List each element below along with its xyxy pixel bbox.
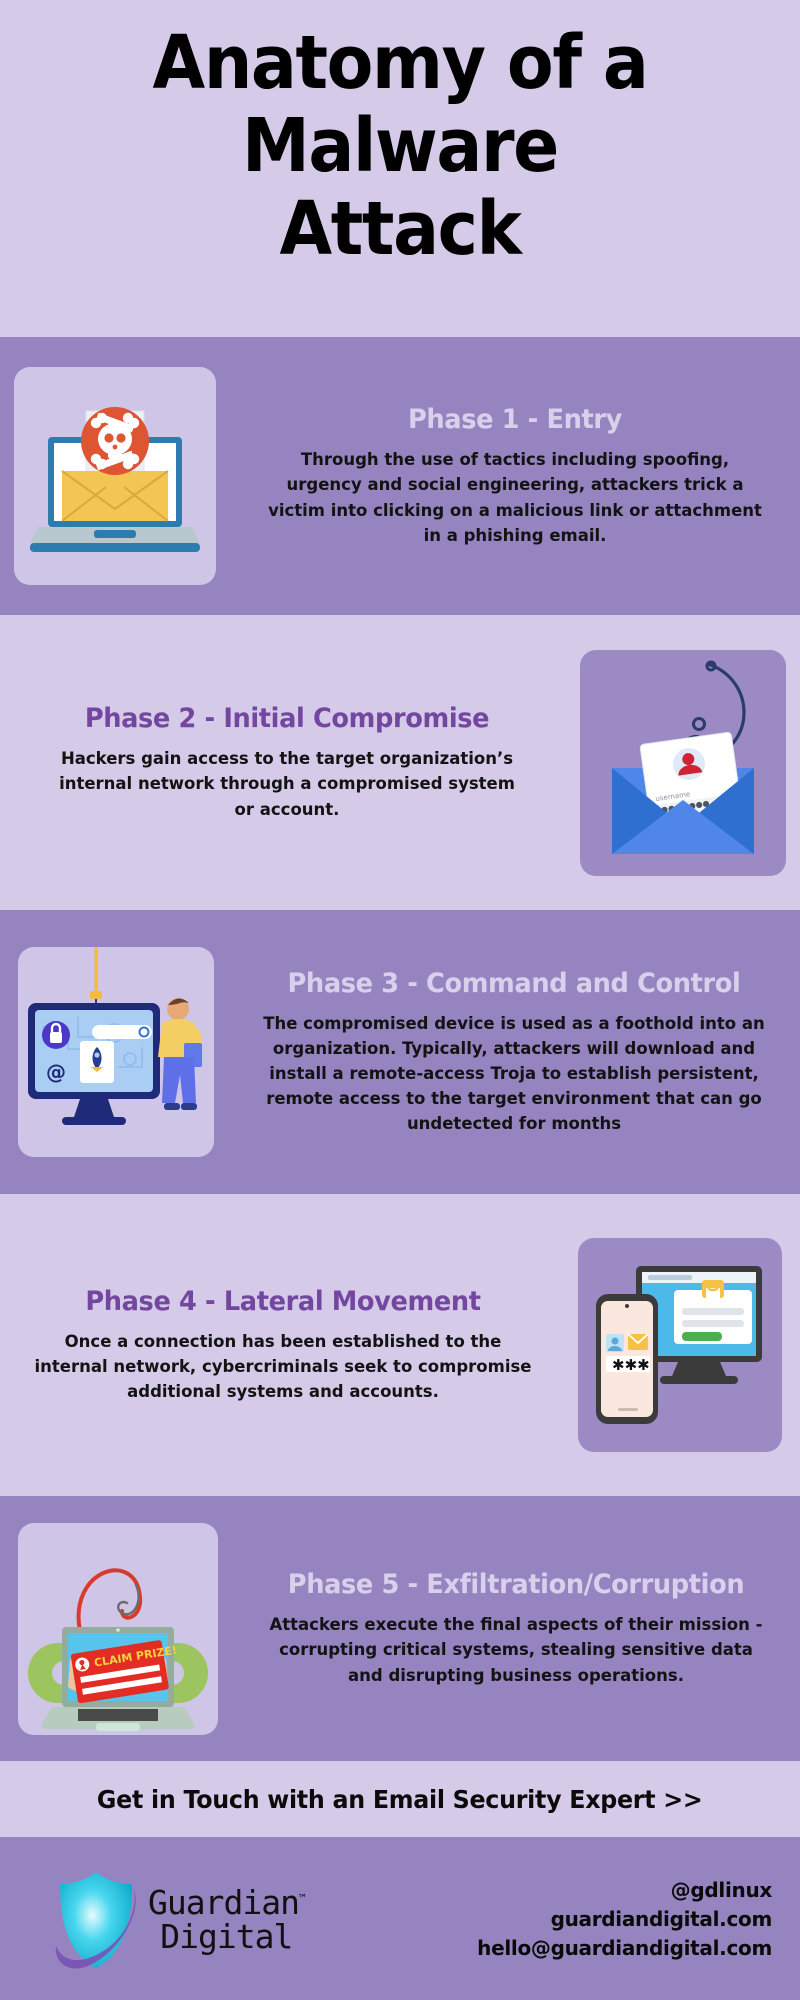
phase-5-copy: Phase 5 - Exfiltration/Corruption Attack… bbox=[232, 1569, 800, 1687]
hook-credentials-envelope-icon: username ●●●●●●● Login bbox=[580, 650, 786, 876]
phase-1-heading: Phase 1 - Entry bbox=[261, 404, 768, 435]
phase-2-heading: Phase 2 - Initial Compromise bbox=[39, 703, 535, 734]
brand-logo: Guardian™ Digital bbox=[50, 1866, 305, 1974]
phase-2-illustration: username ●●●●●●● Login bbox=[580, 650, 786, 876]
contact-block: @gdlinux guardiandigital.com hello@guard… bbox=[477, 1876, 772, 1963]
cta-band[interactable]: Get in Touch with an Email Security Expe… bbox=[0, 1761, 800, 1837]
phase-4-illustration: ✱✱✱ bbox=[578, 1238, 782, 1452]
contact-website[interactable]: guardiandigital.com bbox=[477, 1905, 772, 1934]
phase-row-5: CLAIM PRIZE! Phase 5 - Exfiltration/Corr… bbox=[0, 1496, 800, 1761]
shield-icon bbox=[50, 1866, 142, 1974]
phase-3-copy: Phase 3 - Command and Control The compro… bbox=[228, 968, 800, 1136]
phase-row-2: Phase 2 - Initial Compromise Hackers gai… bbox=[0, 615, 800, 910]
phase-3-heading: Phase 3 - Command and Control bbox=[259, 968, 768, 999]
title-line-3: Attack bbox=[69, 188, 731, 271]
phase-4-body: Once a connection has been established t… bbox=[20, 1329, 546, 1404]
page-title: Anatomy of a Malware Attack bbox=[69, 22, 731, 271]
phase-5-heading: Phase 5 - Exfiltration/Corruption bbox=[263, 1569, 768, 1600]
footer: Guardian™ Digital @gdlinux guardiandigit… bbox=[0, 1837, 800, 2000]
phone-password-stars: ✱✱✱ bbox=[612, 1356, 650, 1374]
phase-row-1: Phase 1 - Entry Through the use of tacti… bbox=[0, 337, 800, 615]
at-symbol: @ bbox=[46, 1060, 66, 1084]
brand-wordmark: Guardian™ Digital bbox=[148, 1886, 305, 1953]
cta-link[interactable]: Get in Touch with an Email Security Expe… bbox=[97, 1785, 703, 1814]
title-line-2: Malware bbox=[69, 105, 731, 188]
monitor-rocket-person-icon: @ bbox=[18, 947, 214, 1157]
phase-2-body: Hackers gain access to the target organi… bbox=[26, 746, 548, 821]
title-band: Anatomy of a Malware Attack bbox=[0, 0, 800, 337]
phase-4-heading: Phase 4 - Lateral Movement bbox=[33, 1286, 533, 1317]
phase-5-illustration: CLAIM PRIZE! bbox=[18, 1523, 218, 1735]
phase-1-copy: Phase 1 - Entry Through the use of tacti… bbox=[230, 404, 800, 547]
phase-row-4: Phase 4 - Lateral Movement Once a connec… bbox=[0, 1194, 800, 1496]
infographic-page: Anatomy of a Malware Attack bbox=[0, 0, 800, 2000]
phase-3-illustration: @ bbox=[18, 947, 214, 1157]
trademark-symbol: ™ bbox=[299, 1892, 305, 1905]
laptop-envelope-skull-icon bbox=[14, 367, 216, 585]
contact-handle[interactable]: @gdlinux bbox=[477, 1876, 772, 1905]
laptop-claim-prize-icon: CLAIM PRIZE! bbox=[18, 1523, 218, 1735]
phase-row-3: @ bbox=[0, 910, 800, 1194]
phase-1-illustration bbox=[14, 367, 216, 585]
phase-5-body: Attackers execute the final aspects of t… bbox=[250, 1612, 782, 1687]
phase-3-body: The compromised device is used as a foot… bbox=[246, 1011, 782, 1136]
title-line-1: Anatomy of a bbox=[69, 22, 731, 105]
phase-1-body: Through the use of tactics including spo… bbox=[248, 447, 782, 547]
contact-email[interactable]: hello@guardiandigital.com bbox=[477, 1934, 772, 1963]
brand-line-2: Digital bbox=[148, 1920, 305, 1954]
phase-4-copy: Phase 4 - Lateral Movement Once a connec… bbox=[0, 1286, 564, 1404]
phone-monitor-login-icon: ✱✱✱ bbox=[578, 1238, 782, 1452]
phase-2-copy: Phase 2 - Initial Compromise Hackers gai… bbox=[0, 703, 566, 821]
brand-line-1: Guardian bbox=[148, 1883, 299, 1922]
